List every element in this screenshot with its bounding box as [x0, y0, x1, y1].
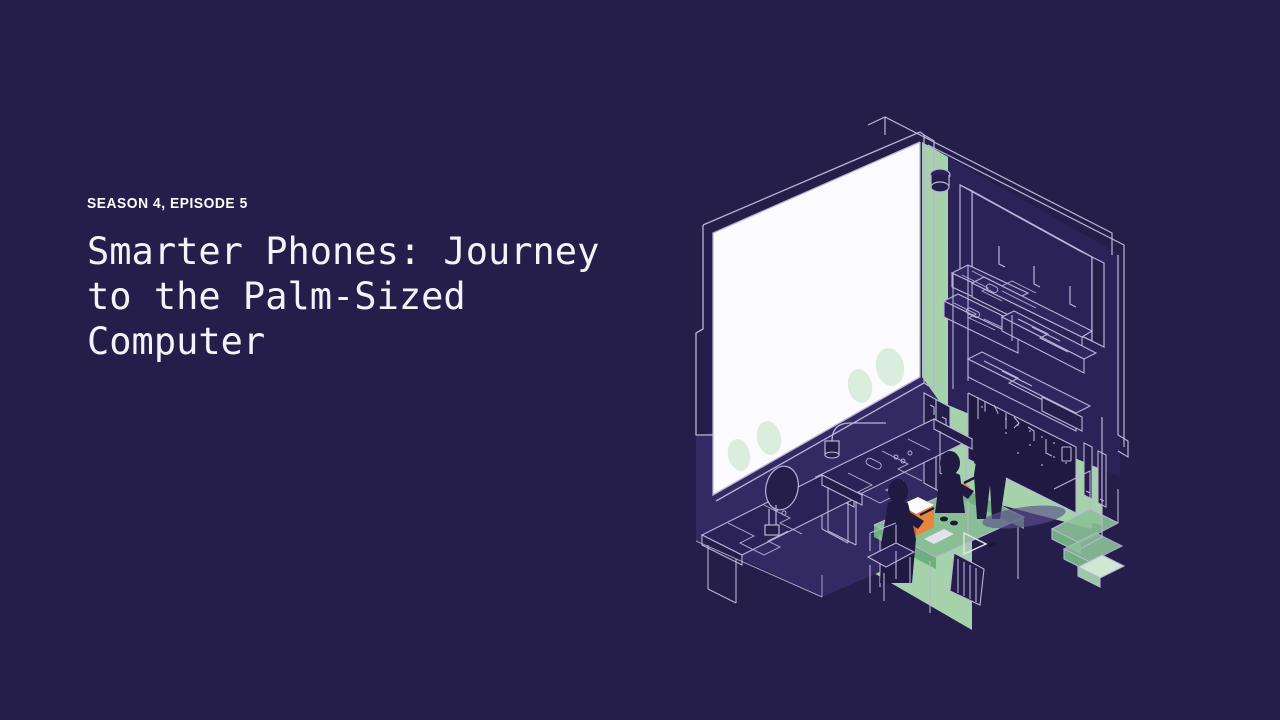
- episode-title: Smarter Phones: Journey to the Palm-Size…: [87, 229, 667, 364]
- isometric-workshop-illustration: [672, 105, 1172, 645]
- episode-text-block: SEASON 4, EPISODE 5 Smarter Phones: Jour…: [87, 196, 667, 364]
- ceiling-lamp: [930, 169, 950, 192]
- episode-eyebrow-label: SEASON 4, EPISODE 5: [87, 196, 621, 211]
- episode-title-card: SEASON 4, EPISODE 5 Smarter Phones: Jour…: [0, 0, 1280, 720]
